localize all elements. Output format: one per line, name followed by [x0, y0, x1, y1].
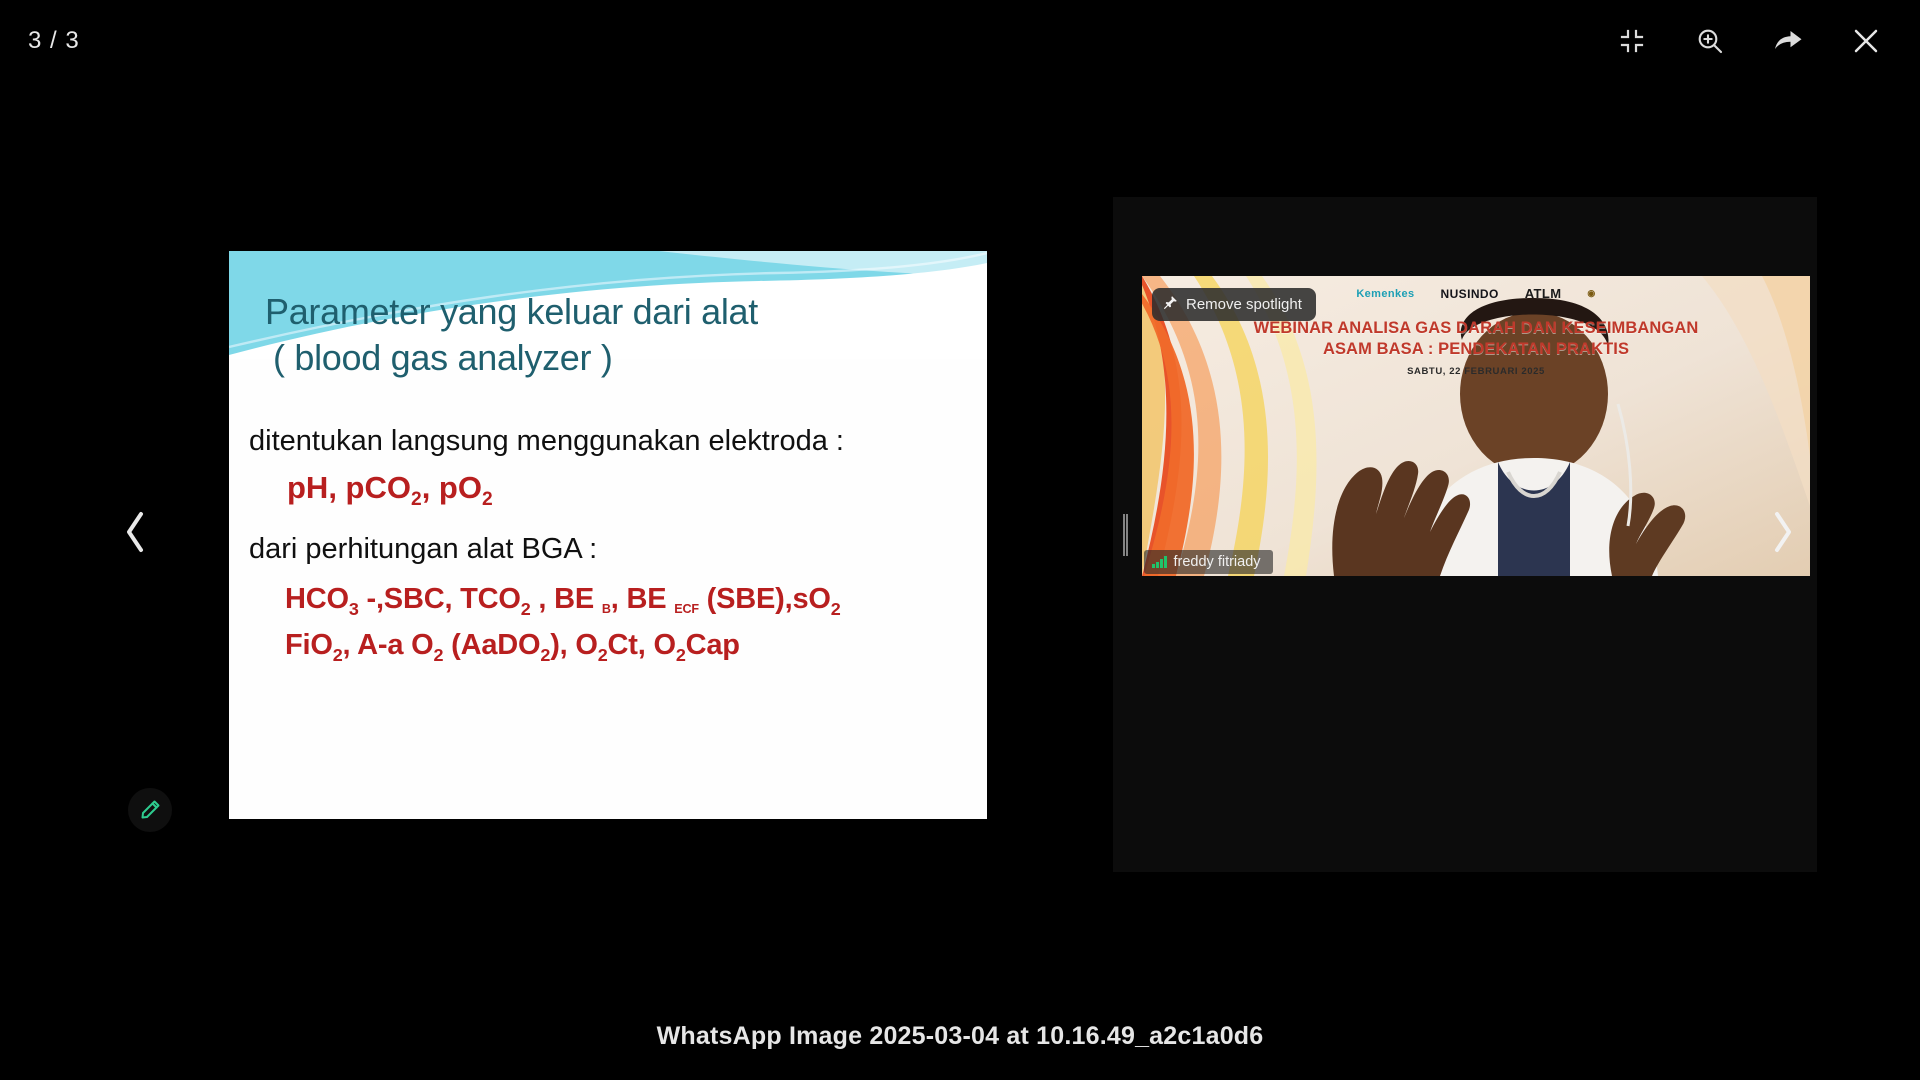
webinar-banner-title: WEBINAR ANALISA GAS DARAH DAN KESEIMBANG… — [1142, 318, 1810, 361]
edit-image-button[interactable] — [128, 788, 172, 832]
participant-name-badge: freddy fitriady — [1144, 550, 1273, 574]
slide-formula-2: HCO3 -,SBC, TCO2 , BE B, BE ECF (SBE),sO… — [245, 581, 971, 621]
participant-name-label: freddy fitriady — [1174, 554, 1261, 570]
image-viewer: 3 / 3 — [0, 0, 1920, 1080]
video-pane: Kemenkes NUSINDO ATLM ◉ WEBINAR ANALISA … — [1137, 197, 1817, 872]
previous-image-button[interactable] — [120, 508, 150, 559]
webinar-banner-date: SABTU, 22 FEBRUARI 2025 — [1142, 366, 1810, 377]
image-filename-caption: WhatsApp Image 2025-03-04 at 10.16.49_a2… — [0, 1022, 1920, 1051]
exit-fullscreen-icon[interactable] — [1608, 17, 1656, 65]
logo-kemenkes: Kemenkes — [1356, 288, 1414, 300]
logo-seal-icon: ◉ — [1587, 288, 1595, 299]
banner-title-line1: WEBINAR ANALISA GAS DARAH DAN KESEIMBANG… — [1142, 318, 1810, 339]
slide-formula-1: pH, pCO2, pO2 — [245, 468, 971, 513]
chevron-right-icon — [1768, 508, 1798, 556]
forward-icon[interactable] — [1764, 17, 1812, 65]
remove-spotlight-label: Remove spotlight — [1186, 296, 1302, 313]
close-icon[interactable] — [1842, 17, 1890, 65]
pin-icon — [1163, 295, 1178, 314]
banner-title-line2: ASAM BASA : PENDEKATAN PRAKTIS — [1142, 339, 1810, 360]
page-counter: 3 / 3 — [28, 27, 80, 55]
chevron-left-icon — [120, 508, 150, 556]
next-image-button[interactable] — [1768, 508, 1798, 559]
slide-formula-3: FiO2, A-a O2 (AaDO2), O2Ct, O2Cap — [245, 627, 971, 667]
slide-subtitle-2: dari perhitungan alat BGA : — [245, 531, 971, 569]
slide-pane: Parameter yang keluar dari alat ( blood … — [103, 197, 1113, 872]
toolbar-actions — [1608, 17, 1890, 65]
viewer-toolbar: 3 / 3 — [0, 0, 1920, 82]
participant-video-tile[interactable]: Kemenkes NUSINDO ATLM ◉ WEBINAR ANALISA … — [1142, 276, 1810, 576]
zoom-in-icon[interactable] — [1686, 17, 1734, 65]
media-stage: Parameter yang keluar dari alat ( blood … — [103, 197, 1817, 872]
signal-bars-icon — [1152, 556, 1167, 568]
divider-grip-icon — [1123, 514, 1128, 556]
pane-divider-handle[interactable] — [1113, 197, 1137, 872]
logo-nusindo: NUSINDO — [1441, 287, 1499, 301]
pencil-icon — [138, 798, 162, 822]
logo-atlm: ATLM — [1525, 286, 1562, 301]
slide-body: Parameter yang keluar dari alat ( blood … — [229, 251, 987, 667]
presentation-slide: Parameter yang keluar dari alat ( blood … — [229, 251, 987, 819]
slide-subtitle-1: ditentukan langsung menggunakan elektrod… — [245, 423, 971, 461]
remove-spotlight-button[interactable]: Remove spotlight — [1152, 288, 1316, 321]
slide-title: Parameter yang keluar dari alat ( blood … — [245, 289, 971, 381]
slide-title-line1: Parameter yang keluar dari alat — [265, 291, 758, 332]
slide-title-line2: ( blood gas analyzer ) — [265, 335, 971, 381]
